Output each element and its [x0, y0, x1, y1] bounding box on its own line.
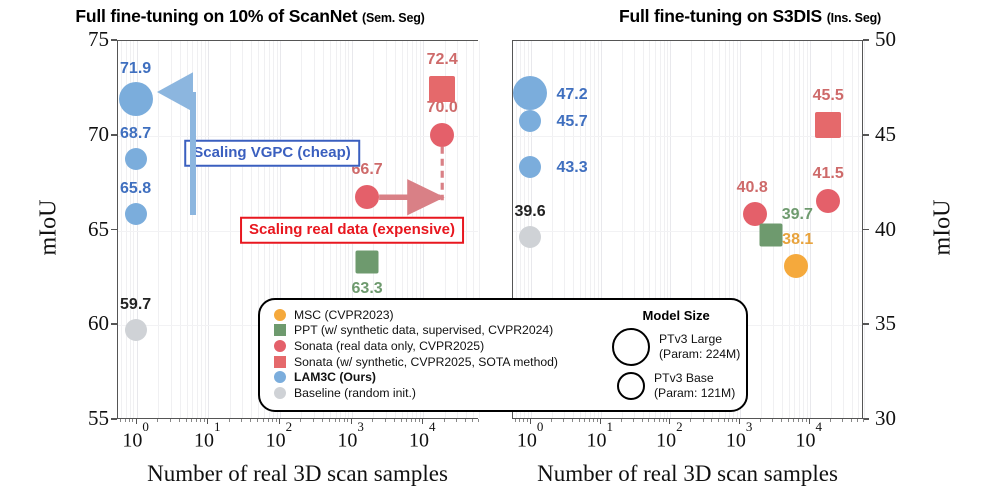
model-size-name: PTv3 Base	[654, 371, 735, 386]
x-tick-mark-minor	[372, 419, 373, 422]
x-tick-mark-minor	[263, 419, 264, 422]
x-tick-mark-minor	[200, 419, 201, 422]
legend-item[interactable]: PPT (w/ synthetic data, supervised, CVPR…	[274, 323, 558, 339]
x-axis-title-s3dis: Number of real 3D scan samples	[482, 461, 893, 487]
y-tick-label-s3dis: 40	[875, 217, 909, 242]
x-tick-mark-minor	[842, 419, 843, 422]
x-tick-label-scannet: 103	[321, 427, 381, 453]
x-tick-mark-minor	[579, 419, 580, 422]
grid-line-horizontal	[118, 136, 478, 137]
x-tick-mark-minor	[129, 419, 130, 422]
x-tick-mark-minor	[347, 419, 348, 422]
x-tick-mark-minor	[728, 419, 729, 422]
x-tick-label-scannet: 104	[392, 427, 452, 453]
model-size-params: (Param: 121M)	[654, 386, 735, 401]
y-tick-mark	[863, 134, 869, 136]
x-tick-mark-minor	[857, 419, 858, 422]
legend-swatch-circle-icon	[274, 309, 286, 321]
x-tick-mark-minor	[589, 419, 590, 422]
data-point-s3dis[interactable]	[760, 224, 783, 247]
grid-line-vertical	[205, 41, 206, 418]
data-point-value-label: 45.5	[813, 87, 844, 105]
legend-model-size: Model Size PTv3 Large(Param: 224M)PTv3 B…	[612, 308, 740, 401]
legend-item[interactable]: Baseline (random init.)	[274, 385, 558, 401]
panel-scannet-title: Full fine-tuning on 10% of ScanNet (Sem.…	[0, 6, 500, 27]
legend-item-label: Baseline (random init.)	[294, 386, 416, 400]
model-size-circle-icon	[612, 328, 650, 366]
x-tick-label-scannet: 101	[177, 427, 237, 453]
x-tick-mark-minor	[523, 419, 524, 422]
legend-item-label: Sonata (w/ synthetic, CVPR2025, SOTA met…	[294, 355, 558, 369]
x-tick-mark-minor	[415, 419, 416, 422]
data-point-s3dis[interactable]	[784, 254, 808, 278]
model-size-label: PTv3 Large(Param: 224M)	[659, 332, 740, 362]
grid-line-vertical	[197, 41, 198, 418]
x-tick-mark-minor	[718, 419, 719, 422]
data-point-scannet[interactable]	[125, 319, 147, 341]
x-tick-mark-minor	[478, 419, 479, 422]
x-tick-label-scannet: 100	[106, 427, 166, 453]
x-tick-mark	[600, 419, 601, 424]
legend-model-size-item: PTv3 Large(Param: 224M)	[612, 328, 740, 366]
x-tick-mark-minor	[344, 419, 345, 422]
x-tick-mark-minor	[300, 419, 301, 422]
grid-line-vertical	[201, 41, 202, 418]
y-tick-mark	[863, 323, 869, 325]
x-tick-mark-minor	[229, 419, 230, 422]
data-point-value-label: 72.4	[427, 51, 458, 69]
x-tick-label-s3dis: 104	[779, 427, 839, 453]
x-tick-mark-minor	[519, 419, 520, 422]
x-tick-mark-minor	[654, 419, 655, 422]
x-tick-mark-minor	[551, 419, 552, 422]
data-point-value-label: 65.8	[120, 180, 151, 198]
legend[interactable]: MSC (CVPR2023)PPT (w/ synthetic data, su…	[258, 298, 748, 412]
data-point-value-label: 68.7	[120, 125, 151, 143]
y-tick-mark	[863, 229, 869, 231]
y-tick-label-s3dis: 45	[875, 122, 909, 147]
x-tick-mark-minor	[830, 419, 831, 422]
panel-s3dis-title-main: Full fine-tuning on S3DIS	[619, 6, 822, 26]
data-point-scannet[interactable]	[356, 250, 379, 273]
x-tick-mark-minor	[663, 419, 664, 422]
x-tick-mark-minor	[465, 419, 466, 422]
data-point-s3dis[interactable]	[513, 76, 547, 110]
x-tick-mark-minor	[781, 419, 782, 422]
data-point-value-label: 40.8	[737, 179, 768, 197]
x-tick-mark-minor	[322, 419, 323, 422]
x-tick-mark-minor	[863, 419, 864, 422]
y-tick-mark	[111, 39, 117, 41]
data-point-scannet[interactable]	[355, 185, 379, 209]
legend-swatch-square-icon	[274, 324, 286, 336]
legend-item-label: LAM3C (Ours)	[294, 370, 376, 384]
grid-line-vertical	[171, 41, 172, 418]
x-tick-mark-minor	[272, 419, 273, 422]
x-tick-mark	[530, 419, 531, 424]
panel-s3dis-title: Full fine-tuning on S3DIS (Ins. Seg)	[500, 6, 1000, 27]
x-tick-mark-minor	[772, 419, 773, 422]
x-tick-label-s3dis: 101	[570, 427, 630, 453]
grid-line-vertical	[803, 41, 804, 418]
data-point-value-label: 47.2	[557, 86, 588, 104]
grid-line-vertical	[799, 41, 800, 418]
legend-item[interactable]: Sonata (real data only, CVPR2025)	[274, 338, 558, 354]
x-tick-mark-minor	[736, 419, 737, 422]
legend-item[interactable]: LAM3C (Ours)	[274, 369, 558, 385]
x-tick-mark-minor	[724, 419, 725, 422]
data-point-scannet[interactable]	[429, 76, 455, 102]
x-tick-mark-minor	[406, 419, 407, 422]
data-point-scannet[interactable]	[125, 203, 147, 225]
y-axis-label-scannet: mIoU	[36, 199, 63, 255]
y-tick-mark	[111, 418, 117, 420]
x-tick-mark-minor	[456, 419, 457, 422]
legend-swatch-circle-icon	[274, 340, 286, 352]
legend-model-size-item: PTv3 Base(Param: 121M)	[612, 371, 740, 401]
data-point-s3dis[interactable]	[519, 110, 541, 132]
data-point-value-label: 59.7	[120, 296, 151, 314]
x-tick-mark-minor	[732, 419, 733, 422]
legend-swatch-circle-icon	[274, 371, 286, 383]
x-tick-mark-minor	[690, 419, 691, 422]
x-tick-mark-minor	[802, 419, 803, 422]
y-tick-mark	[111, 323, 117, 325]
x-tick-mark-minor	[572, 419, 573, 422]
x-tick-mark	[422, 419, 423, 424]
panel-scannet: Full fine-tuning on 10% of ScanNet (Sem.…	[0, 0, 500, 500]
x-tick-mark-minor	[851, 419, 852, 422]
annotation-scaling-real-data: Scaling real data (expensive)	[240, 217, 464, 244]
panel-s3dis-title-sub: (Ins. Seg)	[827, 11, 881, 25]
figure-root: Full fine-tuning on 10% of ScanNet (Sem.…	[0, 0, 1000, 500]
x-tick-mark-minor	[633, 419, 634, 422]
x-tick-mark-minor	[597, 419, 598, 422]
y-tick-label-scannet: 60	[75, 311, 109, 336]
data-point-s3dis[interactable]	[816, 189, 840, 213]
x-tick-mark-minor	[788, 419, 789, 422]
y-axis-label-s3dis: mIoU	[930, 199, 957, 255]
data-point-value-label: 63.3	[352, 280, 383, 298]
grid-line-vertical	[852, 41, 853, 418]
x-tick-mark-minor	[250, 419, 251, 422]
legend-item[interactable]: MSC (CVPR2023)	[274, 307, 558, 323]
y-tick-label-scannet: 55	[75, 406, 109, 431]
x-tick-mark-minor	[515, 419, 516, 422]
grid-line-vertical	[794, 41, 795, 418]
x-tick-mark-minor	[157, 419, 158, 422]
legend-model-size-rows: PTv3 Large(Param: 224M)PTv3 Base(Param: …	[612, 328, 740, 401]
legend-model-size-title: Model Size	[612, 308, 740, 323]
data-point-value-label: 38.1	[782, 231, 813, 249]
x-tick-label-s3dis: 103	[709, 427, 769, 453]
y-tick-label-s3dis: 30	[875, 406, 909, 431]
x-tick-mark-minor	[806, 419, 807, 422]
grid-line-vertical	[789, 41, 790, 418]
x-tick-mark-minor	[593, 419, 594, 422]
y-tick-label-s3dis: 35	[875, 311, 909, 336]
data-point-scannet[interactable]	[119, 82, 153, 116]
x-tick-mark	[739, 419, 740, 424]
x-tick-mark-minor	[313, 419, 314, 422]
legend-item-label: Sonata (real data only, CVPR2025)	[294, 339, 484, 353]
grid-line-vertical	[810, 41, 811, 418]
x-tick-mark-minor	[703, 419, 704, 422]
x-tick-mark-minor	[419, 419, 420, 422]
data-point-scannet[interactable]	[125, 148, 147, 170]
x-tick-mark-minor	[659, 419, 660, 422]
x-axis-title-scannet: Number of real 3D scan samples	[87, 461, 508, 487]
x-tick-label-scannet: 102	[249, 427, 309, 453]
grid-line-horizontal	[513, 136, 862, 137]
x-tick-mark-minor	[563, 419, 564, 422]
panel-scannet-title-sub: (Sem. Seg)	[362, 11, 425, 25]
x-tick-mark-minor	[204, 419, 205, 422]
x-tick-mark	[136, 419, 137, 424]
x-tick-mark-minor	[711, 419, 712, 422]
grid-line-vertical	[187, 41, 188, 418]
x-tick-mark-minor	[339, 419, 340, 422]
legend-item-label: PPT (w/ synthetic data, supervised, CVPR…	[294, 323, 553, 337]
legend-swatch-square-icon	[274, 356, 286, 368]
model-size-name: PTv3 Large	[659, 332, 740, 347]
grid-line-vertical	[180, 41, 181, 418]
panel-scannet-title-main: Full fine-tuning on 10% of ScanNet	[75, 6, 357, 26]
x-tick-mark-minor	[666, 419, 667, 422]
grid-line-vertical	[158, 41, 159, 418]
x-tick-mark-minor	[132, 419, 133, 422]
legend-series-list: MSC (CVPR2023)PPT (w/ synthetic data, su…	[274, 307, 558, 401]
y-tick-label-scannet: 75	[75, 27, 109, 52]
x-tick-mark-minor	[642, 419, 643, 422]
x-tick-mark	[669, 419, 670, 424]
x-tick-mark-minor	[329, 419, 330, 422]
legend-item-label: MSC (CVPR2023)	[294, 308, 394, 322]
y-tick-label-s3dis: 50	[875, 27, 909, 52]
x-tick-mark-minor	[120, 419, 121, 422]
data-point-value-label: 41.5	[813, 165, 844, 183]
x-tick-mark-minor	[394, 419, 395, 422]
x-tick-mark	[351, 419, 352, 424]
x-tick-mark-minor	[191, 419, 192, 422]
y-tick-mark	[111, 134, 117, 136]
data-point-value-label: 45.7	[557, 113, 588, 131]
data-point-s3dis[interactable]	[519, 156, 541, 178]
x-tick-mark-minor	[385, 419, 386, 422]
x-tick-mark-minor	[584, 419, 585, 422]
data-point-scannet[interactable]	[430, 123, 454, 147]
x-tick-mark-minor	[186, 419, 187, 422]
legend-swatch-circle-icon	[274, 387, 286, 399]
x-tick-mark-minor	[196, 419, 197, 422]
data-point-value-label: 71.9	[120, 60, 151, 78]
x-tick-mark-minor	[621, 419, 622, 422]
x-tick-mark-minor	[760, 419, 761, 422]
x-tick-mark-minor	[798, 419, 799, 422]
grid-line-vertical	[230, 41, 231, 418]
data-point-s3dis[interactable]	[519, 226, 541, 248]
legend-item[interactable]: Sonata (w/ synthetic, CVPR2025, SOTA met…	[274, 354, 558, 370]
x-tick-mark-minor	[125, 419, 126, 422]
model-size-params: (Param: 224M)	[659, 347, 740, 362]
x-tick-mark-minor	[472, 419, 473, 422]
x-tick-mark-minor	[179, 419, 180, 422]
x-tick-mark-minor	[648, 419, 649, 422]
x-tick-mark-minor	[411, 419, 412, 422]
grid-line-vertical	[192, 41, 193, 418]
annotation-scaling-vgpc: Scaling VGPC (cheap)	[184, 140, 360, 167]
x-tick-mark-minor	[444, 419, 445, 422]
grid-line-vertical	[807, 41, 808, 418]
x-tick-mark-minor	[257, 419, 258, 422]
y-tick-label-scannet: 65	[75, 217, 109, 242]
data-point-s3dis[interactable]	[815, 112, 841, 138]
grid-line-vertical	[208, 41, 209, 418]
grid-line-vertical	[858, 41, 859, 418]
x-tick-mark-minor	[335, 419, 336, 422]
y-tick-mark	[863, 39, 869, 41]
x-tick-mark	[207, 419, 208, 424]
model-size-circle-icon	[617, 372, 645, 400]
x-tick-mark-minor	[241, 419, 242, 422]
x-tick-mark-minor	[793, 419, 794, 422]
x-tick-mark-minor	[276, 419, 277, 422]
x-tick-label-s3dis: 102	[639, 427, 699, 453]
x-tick-mark-minor	[401, 419, 402, 422]
x-tick-mark-minor	[170, 419, 171, 422]
x-tick-mark-minor	[268, 419, 269, 422]
x-tick-mark	[809, 419, 810, 424]
x-tick-mark-minor	[527, 419, 528, 422]
model-size-label: PTv3 Base(Param: 121M)	[654, 371, 735, 401]
data-point-value-label: 39.6	[515, 203, 546, 221]
y-tick-label-scannet: 70	[75, 122, 109, 147]
data-point-value-label: 39.7	[782, 206, 813, 224]
panel-s3dis: Full fine-tuning on S3DIS (Ins. Seg) mIo…	[500, 0, 1000, 500]
y-tick-mark	[111, 229, 117, 231]
x-tick-mark	[279, 419, 280, 424]
data-point-value-label: 43.3	[557, 159, 588, 177]
x-tick-label-s3dis: 100	[500, 427, 560, 453]
